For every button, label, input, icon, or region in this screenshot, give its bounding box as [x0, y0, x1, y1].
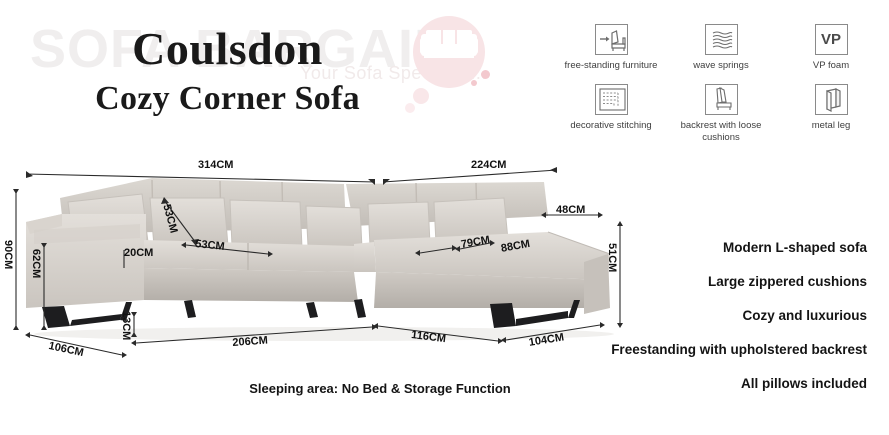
- list-item: Modern L-shaped sofa: [547, 240, 867, 255]
- dimension-back-height: 62CM: [30, 249, 42, 278]
- product-spec-sheet: SOFA BARGAIN Your Sofa Specialist... Cou…: [0, 0, 889, 435]
- list-item: Large zippered cushions: [547, 274, 867, 289]
- dimension-chaise-back: 48CM: [556, 204, 585, 216]
- sleeping-area-caption: Sleeping area: No Bed & Storage Function: [0, 381, 760, 396]
- dimension-total-height: 90CM: [2, 240, 14, 269]
- dimension-leg-height: 13CM: [120, 311, 132, 340]
- dimension-arm-width: 20CM: [124, 247, 153, 259]
- dimension-seat-length: 206CM: [232, 335, 268, 349]
- dimension-overall-width: 314CM: [198, 159, 233, 171]
- dimension-chaise-width: 224CM: [471, 159, 506, 171]
- list-item: Cozy and luxurious: [547, 308, 867, 323]
- list-item: Freestanding with upholstered backrest: [547, 342, 867, 357]
